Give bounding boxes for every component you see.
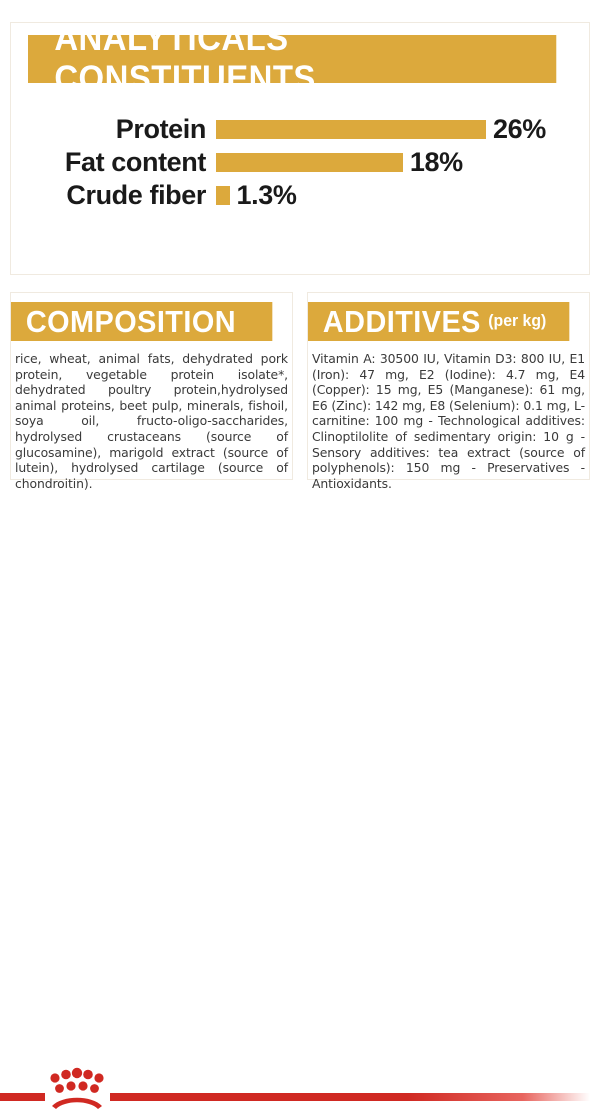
footer-rule-right [110,1093,590,1101]
analyticals-header: ANALYTICALS CONSTITUENTS [28,35,556,83]
bar-fill-crude-fiber [216,186,230,205]
bar-row-protein: Protein 26% [0,113,600,146]
bar-track-crude-fiber: 1.3% [216,186,296,205]
bar-track-protein: 26% [216,120,546,139]
bar-fill-fat-content [216,153,403,172]
composition-header: COMPOSITION [11,302,272,341]
footer-rule-left [0,1093,45,1101]
additives-header-suffix: (per kg) [488,311,546,333]
composition-panel: COMPOSITION rice, wheat, animal fats, de… [10,292,293,480]
footer-logo-strip [0,528,600,600]
composition-text: rice, wheat, animal fats, dehydrated por… [11,351,292,491]
bar-label-crude-fiber: Crude fiber [0,180,216,211]
additives-text: Vitamin A: 30500 IU, Vitamin D3: 800 IU,… [308,351,589,491]
bar-value-crude-fiber: 1.3% [237,180,297,211]
nutrition-label-sheet: ANALYTICALS CONSTITUENTS Protein 26% Fat… [0,0,600,600]
bar-row-crude-fiber: Crude fiber 1.3% [0,179,600,212]
bar-value-fat-content: 18% [410,147,463,178]
additives-header: ADDITIVES (per kg) [308,302,569,341]
analyticals-bar-chart: Protein 26% Fat content 18% Crude fiber … [0,113,600,212]
bar-label-protein: Protein [0,114,216,145]
additives-header-title: ADDITIVES [323,304,481,340]
additives-panel: ADDITIVES (per kg) Vitamin A: 30500 IU, … [307,292,590,480]
bar-label-fat-content: Fat content [0,147,216,178]
bar-value-protein: 26% [493,114,546,145]
bar-fill-protein [216,120,486,139]
bar-track-fat-content: 18% [216,153,463,172]
bar-row-fat-content: Fat content 18% [0,146,600,179]
royal-canin-crown-icon [42,1066,112,1111]
